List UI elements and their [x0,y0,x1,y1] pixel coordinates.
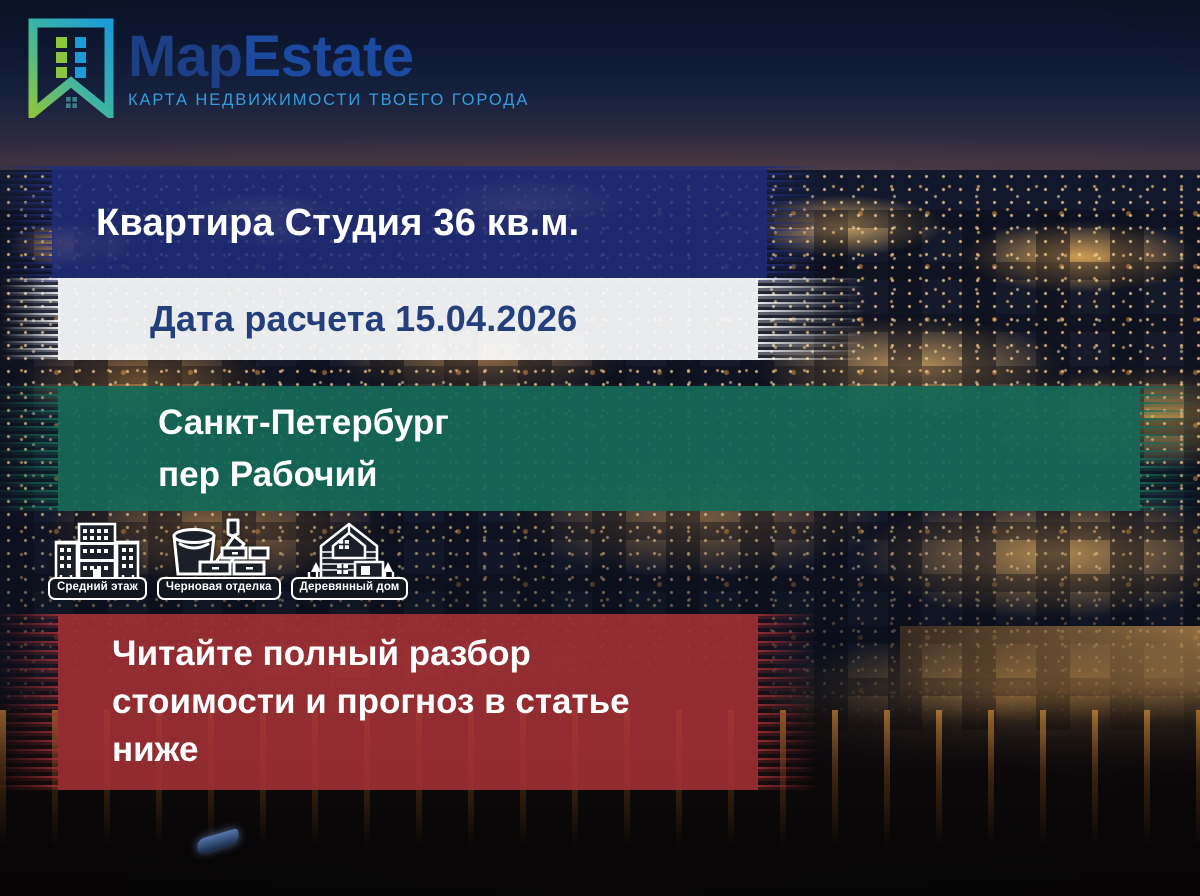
brand-tagline: КАРТА НЕДВИЖИМОСТИ ТВОЕГО ГОРОДА [128,92,529,109]
mid-floor-building-icon [51,516,143,586]
calculation-date-banner: Дата расчета 15.04.2026 [58,278,758,360]
location-street: пер Рабочий [158,455,1140,495]
brand-logo[interactable]: MapEstate КАРТА НЕДВИЖИМОСТИ ТВОЕГО ГОРО… [28,18,529,118]
rough-finish-bucket-trowel-icon [166,516,271,586]
property-title: Квартира Студия 36 кв.м. [96,202,767,245]
feature-badge-list: Средний этаж [48,516,408,600]
feature-label: Деревянный дом [291,577,409,600]
wooden-house-icon [299,516,399,586]
poster-canvas: MapEstate КАРТА НЕДВИЖИМОСТИ ТВОЕГО ГОРО… [0,0,1200,896]
feature-label: Средний этаж [48,577,147,600]
feature-badge-wooden-house[interactable]: Деревянный дом [291,516,409,600]
brand-name-part2: Estate [243,24,414,89]
cta-line-1: Читайте полный разбор [112,630,758,678]
calculation-date: Дата расчета 15.04.2026 [150,298,758,340]
brand-name-part1: Map [128,24,243,89]
location-city: Санкт-Петербург [158,403,1140,443]
cta-line-2: стоимости и прогноз в статье [112,678,758,726]
feature-badge-rough-finish[interactable]: Черновая отделка [157,516,281,600]
location-banner: Санкт-Петербург пер Рабочий [58,386,1140,511]
feature-badge-mid-floor[interactable]: Средний этаж [48,516,147,600]
property-title-banner: Квартира Студия 36 кв.м. [52,166,767,281]
cta-banner[interactable]: Читайте полный разбор стоимости и прогно… [58,614,758,790]
bookmark-building-logo-icon [28,18,114,118]
brand-wordmark: MapEstate [128,28,529,86]
feature-label: Черновая отделка [157,577,281,600]
cta-line-3: ниже [112,726,758,774]
brand-wordmark-block: MapEstate КАРТА НЕДВИЖИМОСТИ ТВОЕГО ГОРО… [128,28,529,109]
